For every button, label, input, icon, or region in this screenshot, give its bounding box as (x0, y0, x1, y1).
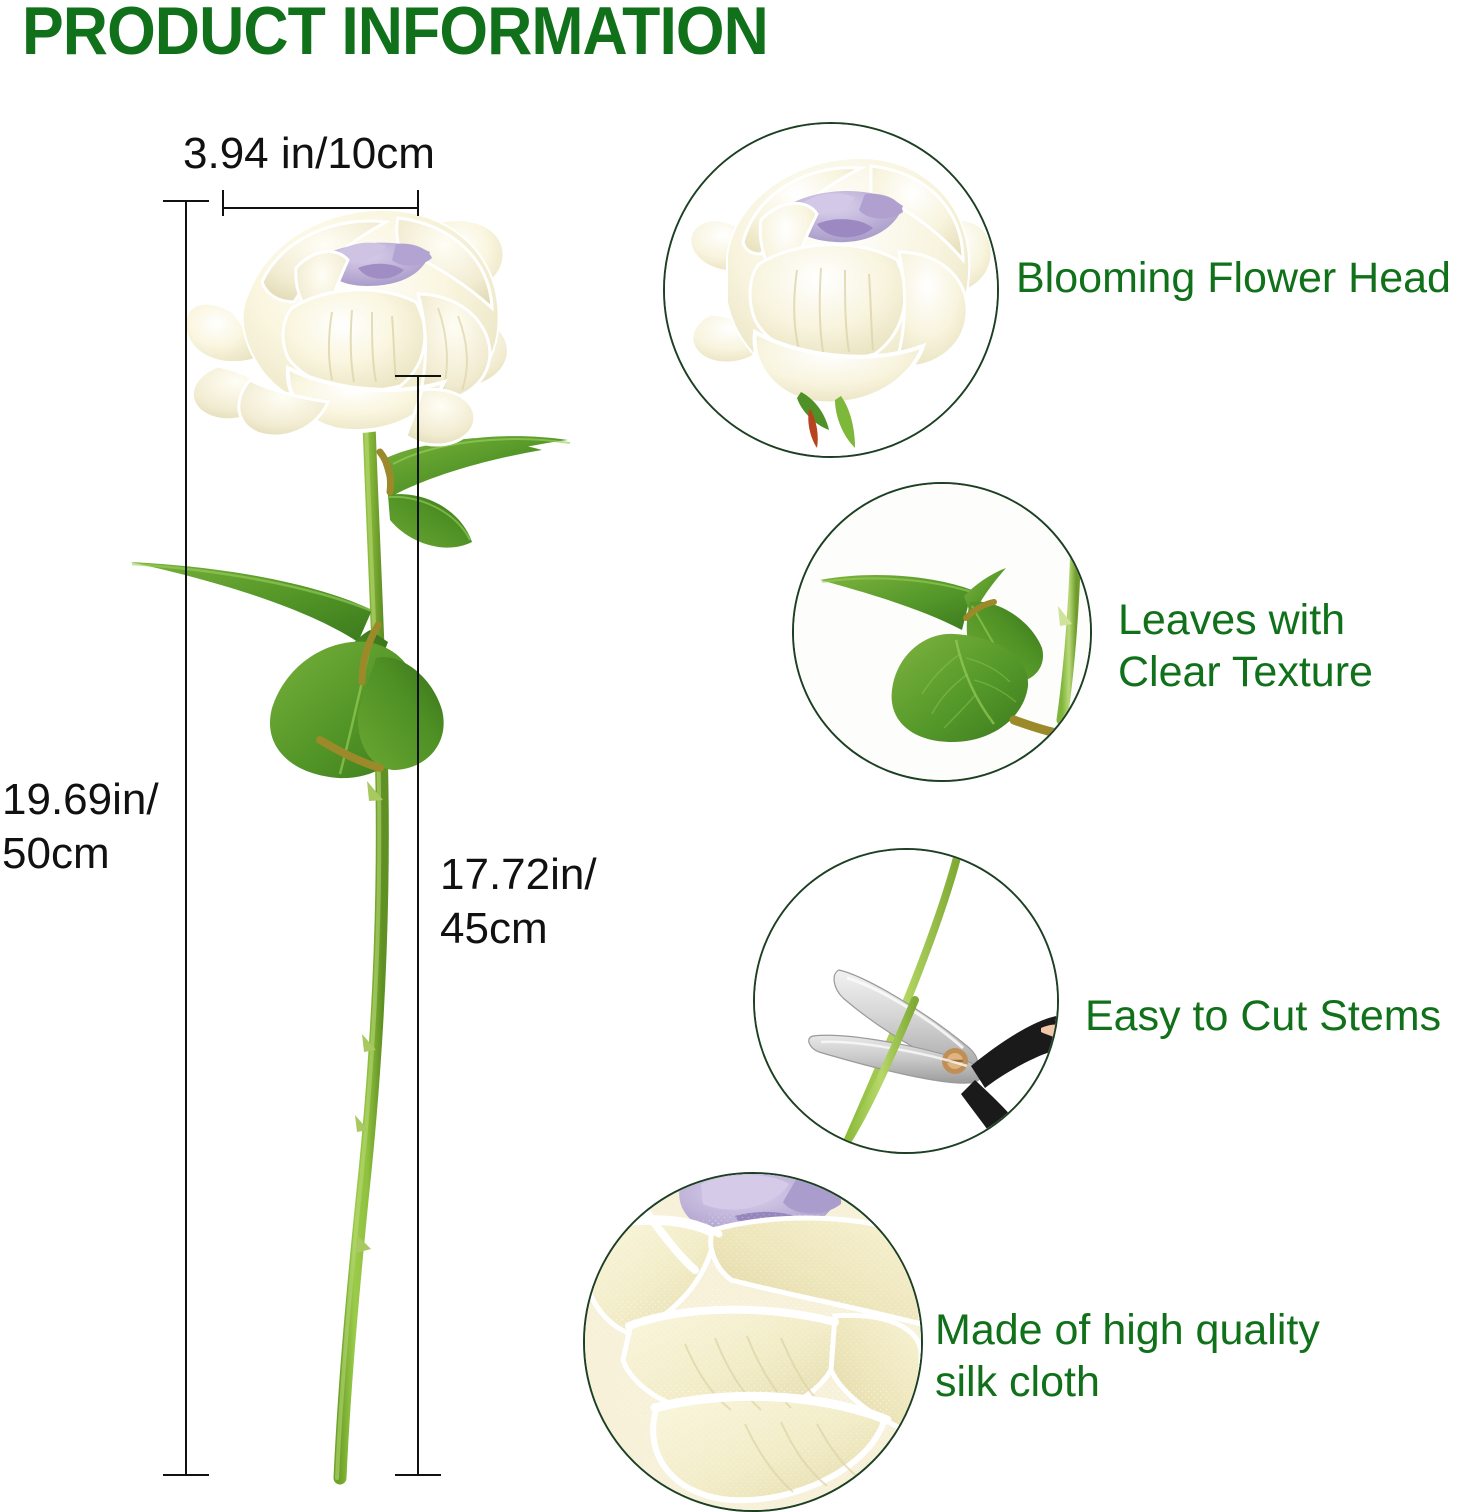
inset-rose-bloom-closeup (663, 122, 999, 458)
width-tick-left (222, 190, 224, 216)
product-illustration (100, 190, 660, 1490)
stem-length-cap-top (395, 375, 441, 377)
inset-scissors-cutting-stem (753, 848, 1059, 1154)
stem-length-dimension-line (417, 375, 419, 1475)
total-length-cap-top (163, 200, 209, 202)
leaf-cluster-mid (130, 562, 444, 778)
feature-caption-leaves: Leaves with Clear Texture (1118, 594, 1373, 698)
dimension-total-length-label: 19.69in/ 50cm (2, 773, 159, 881)
dimension-width-label: 3.94 in/10cm (183, 127, 435, 181)
leaf-cluster-upper (380, 436, 570, 547)
inset-leaf-closeup (792, 482, 1092, 782)
total-length-dimension-line (185, 200, 187, 1475)
width-dimension-line (222, 207, 419, 209)
stem-length-cap-bottom (395, 1474, 441, 1476)
feature-caption-stems: Easy to Cut Stems (1085, 990, 1441, 1042)
product-information-infographic: PRODUCT INFORMATION (0, 0, 1465, 1500)
total-length-cap-bottom (163, 1474, 209, 1476)
page-title: PRODUCT INFORMATION (22, 0, 768, 70)
rose-bloom (185, 210, 508, 445)
inset-silk-fabric-closeup (583, 1172, 923, 1512)
dimension-stem-length-label: 17.72in/ 45cm (440, 848, 597, 956)
feature-caption-silk: Made of high quality silk cloth (935, 1304, 1320, 1408)
width-tick-right (417, 190, 419, 216)
feature-caption-flower-head: Blooming Flower Head (1016, 252, 1451, 304)
